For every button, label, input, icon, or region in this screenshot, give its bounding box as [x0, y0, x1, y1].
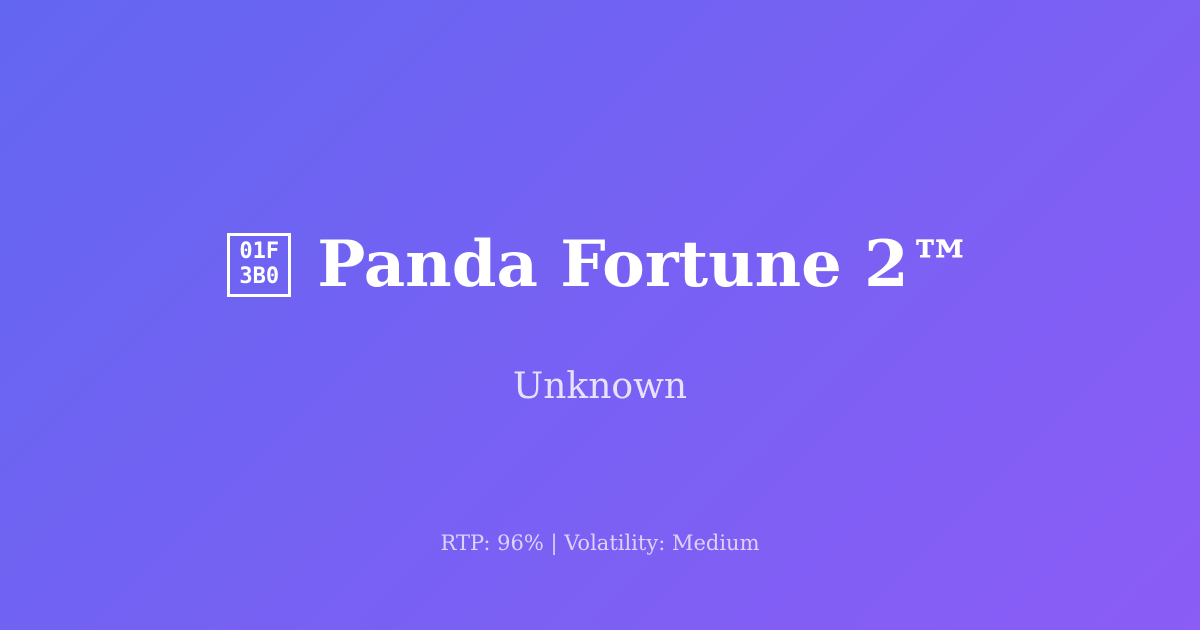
slot-machine-icon: 01F 3B0: [227, 233, 291, 297]
missing-glyph-box: 01F 3B0: [227, 233, 291, 297]
og-card: 01F 3B0 Panda Fortune 2™ Unknown RTP: 96…: [0, 0, 1200, 630]
title-row: 01F 3B0 Panda Fortune 2™: [0, 231, 1200, 298]
codepoint-top: 01F: [239, 240, 279, 264]
codepoint-bottom: 3B0: [239, 265, 279, 289]
page-title: Panda Fortune 2™: [317, 231, 972, 298]
subtitle-provider: Unknown: [0, 366, 1200, 408]
game-stats-footer: RTP: 96% | Volatility: Medium: [0, 530, 1200, 556]
